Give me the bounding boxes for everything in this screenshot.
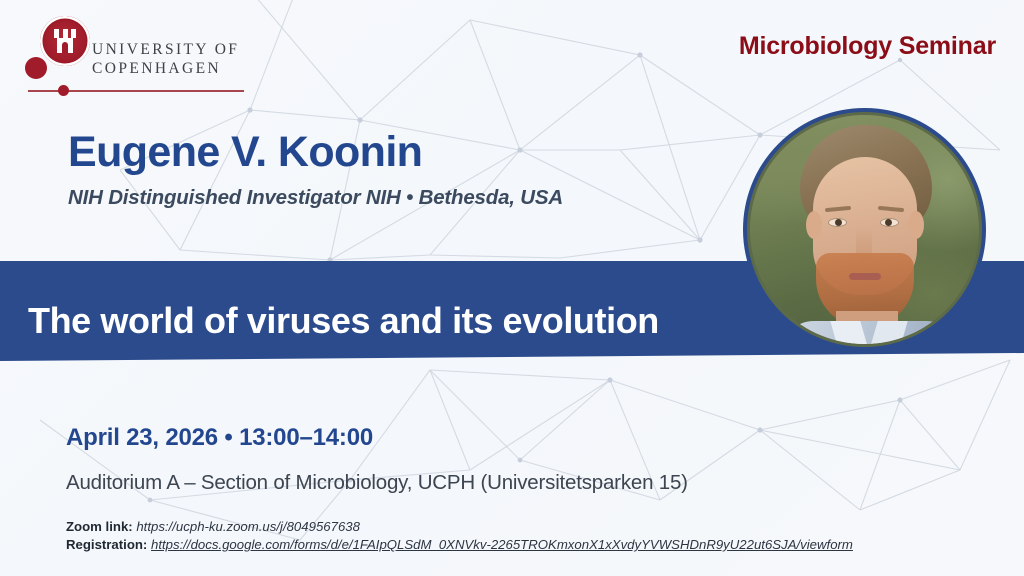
portrait-pupil-left [835, 219, 842, 226]
ucph-seal-icon [40, 16, 90, 66]
logo-dot-large [25, 57, 47, 79]
portrait-shirt [780, 321, 960, 344]
registration-link-row: Registration: https://docs.google.com/fo… [66, 536, 853, 554]
portrait-photo-image [750, 115, 979, 344]
logo-wordmark: UNIVERSITY OF COPENHAGEN [92, 40, 239, 78]
seminar-poster: UNIVERSITY OF COPENHAGEN Microbiology Se… [0, 0, 1024, 576]
logo-dot-small [58, 85, 69, 96]
zoom-link-label: Zoom link: [66, 519, 133, 534]
zoom-link-row: Zoom link: https://ucph-ku.zoom.us/j/804… [66, 518, 853, 536]
portrait-pupil-right [885, 219, 892, 226]
speaker-affiliation: NIH Distinguished Investigator NIH • Bet… [68, 186, 563, 210]
registration-url[interactable]: https://docs.google.com/forms/d/e/1FAIpQ… [151, 537, 853, 552]
seal-tower-glyph [54, 29, 76, 53]
registration-label: Registration: [66, 537, 147, 552]
zoom-link-url[interactable]: https://ucph-ku.zoom.us/j/8049567638 [136, 519, 360, 534]
logo-wordmark-line2: COPENHAGEN [92, 59, 239, 78]
speaker-portrait [743, 108, 986, 351]
event-venue: Auditorium A – Section of Microbiology, … [66, 471, 688, 495]
talk-title: The world of viruses and its evolution [28, 300, 659, 342]
seminar-series-kicker: Microbiology Seminar [739, 32, 996, 61]
logo-wordmark-line1: UNIVERSITY OF [92, 40, 239, 59]
speaker-name: Eugene V. Koonin [68, 128, 422, 177]
links-block: Zoom link: https://ucph-ku.zoom.us/j/804… [66, 518, 853, 554]
portrait-ear-right [908, 211, 924, 239]
portrait-mouth [849, 273, 881, 280]
portrait-ear-left [806, 211, 822, 239]
event-date-time: April 23, 2026 • 13:00–14:00 [66, 424, 373, 452]
ucph-logo: UNIVERSITY OF COPENHAGEN [22, 14, 282, 98]
